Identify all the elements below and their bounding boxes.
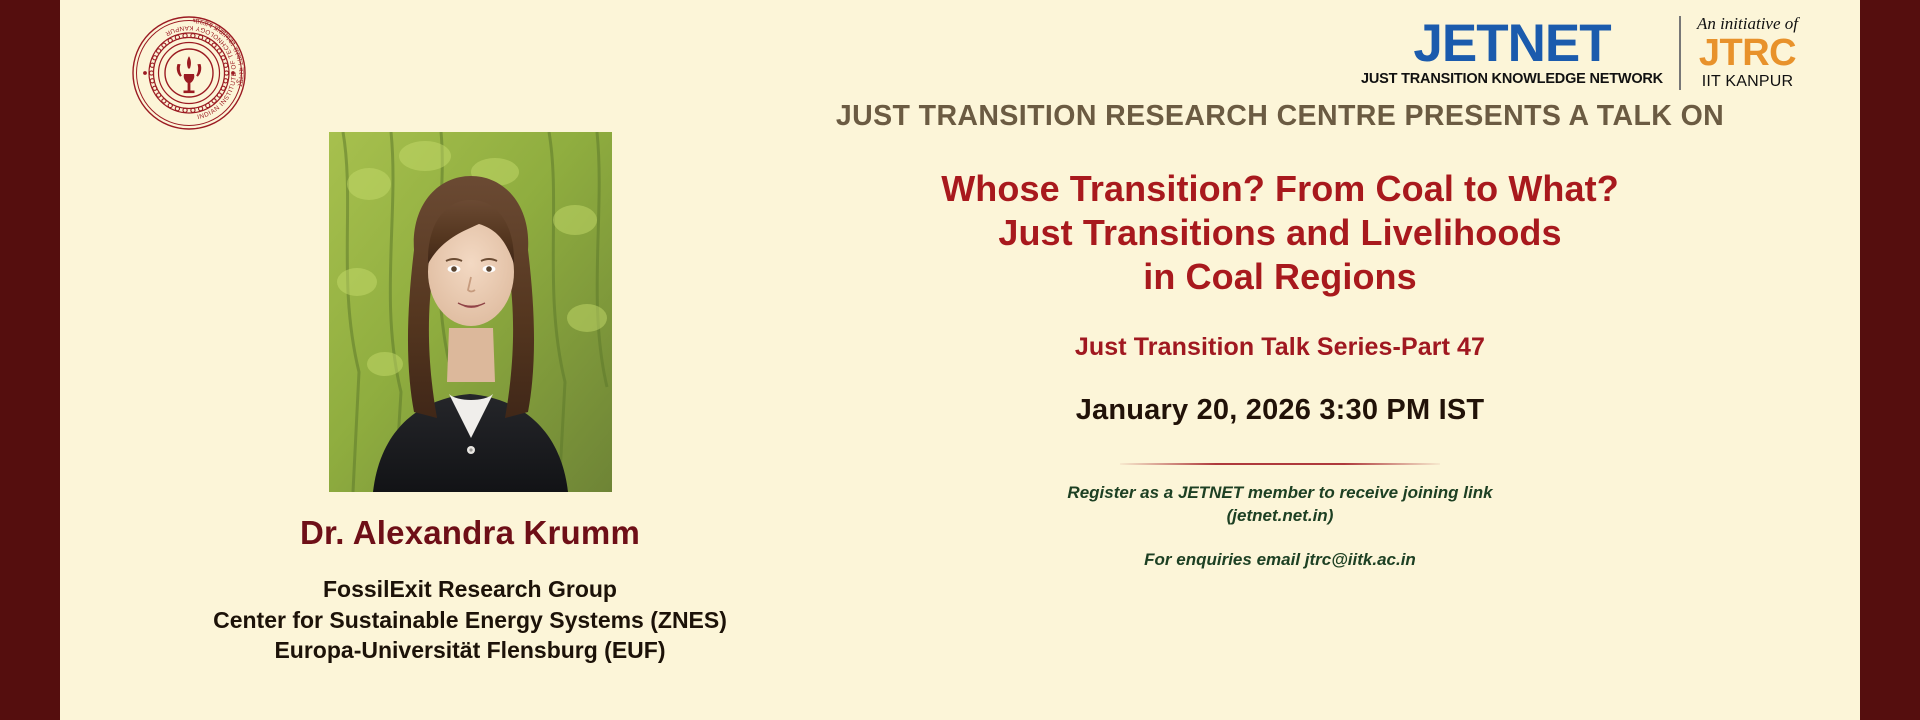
presents-headline: JUST TRANSITION RESEARCH CENTRE PRESENTS… xyxy=(700,100,1860,133)
affiliation-line: Europa-Universität Flensburg (EUF) xyxy=(120,635,820,666)
jetnet-tagline: JUST TRANSITION KNOWLEDGE NETWORK xyxy=(1361,72,1663,88)
event-poster: भारतीय प्रौद्योगिकी संस्थान कानपुर INDIA… xyxy=(0,0,1920,720)
footer-divider xyxy=(1120,463,1440,465)
jtrc-wordmark: JTRC xyxy=(1699,34,1796,73)
initiative-label: An initiative of xyxy=(1697,15,1798,34)
affiliation-line: FossilExit Research Group xyxy=(120,574,820,605)
talk-series-label: Just Transition Talk Series-Part 47 xyxy=(700,333,1860,362)
talk-title-line: in Coal Regions xyxy=(700,255,1860,299)
registration-line: Register as a JETNET member to receive j… xyxy=(700,481,1860,504)
jtrc-institute-label: IIT KANPUR xyxy=(1702,73,1794,91)
jetnet-wordmark: JETNET xyxy=(1413,18,1610,70)
jetnet-logo: JETNET JUST TRANSITION KNOWLEDGE NETWORK xyxy=(1361,14,1679,92)
talk-title-line: Just Transitions and Livelihoods xyxy=(700,211,1860,255)
registration-note: Register as a JETNET member to receive j… xyxy=(700,481,1860,528)
enquiry-email-line[interactable]: For enquiries email jtrc@iitk.ac.in xyxy=(700,550,1860,570)
speaker-affiliations: FossilExit Research Group Center for Sus… xyxy=(120,574,820,666)
affiliation-line: Center for Sustainable Energy Systems (Z… xyxy=(120,605,820,636)
poster-canvas: भारतीय प्रौद्योगिकी संस्थान कानपुर INDIA… xyxy=(60,0,1860,720)
registration-website[interactable]: (jetnet.net.in) xyxy=(700,504,1860,527)
iitk-seal-icon: भारतीय प्रौद्योगिकी संस्थान कानपुर INDIA… xyxy=(128,12,250,134)
speaker-portrait xyxy=(329,132,612,492)
talk-details-section: JUST TRANSITION RESEARCH CENTRE PRESENTS… xyxy=(700,100,1860,570)
jetnet-jtrc-logo: JETNET JUST TRANSITION KNOWLEDGE NETWORK… xyxy=(1361,14,1798,92)
talk-datetime: January 20, 2026 3:30 PM IST xyxy=(700,394,1860,427)
jtrc-logo: An initiative of JTRC IIT KANPUR xyxy=(1681,14,1798,92)
talk-title: Whose Transition? From Coal to What? Jus… xyxy=(700,167,1860,299)
talk-title-line: Whose Transition? From Coal to What? xyxy=(700,167,1860,211)
